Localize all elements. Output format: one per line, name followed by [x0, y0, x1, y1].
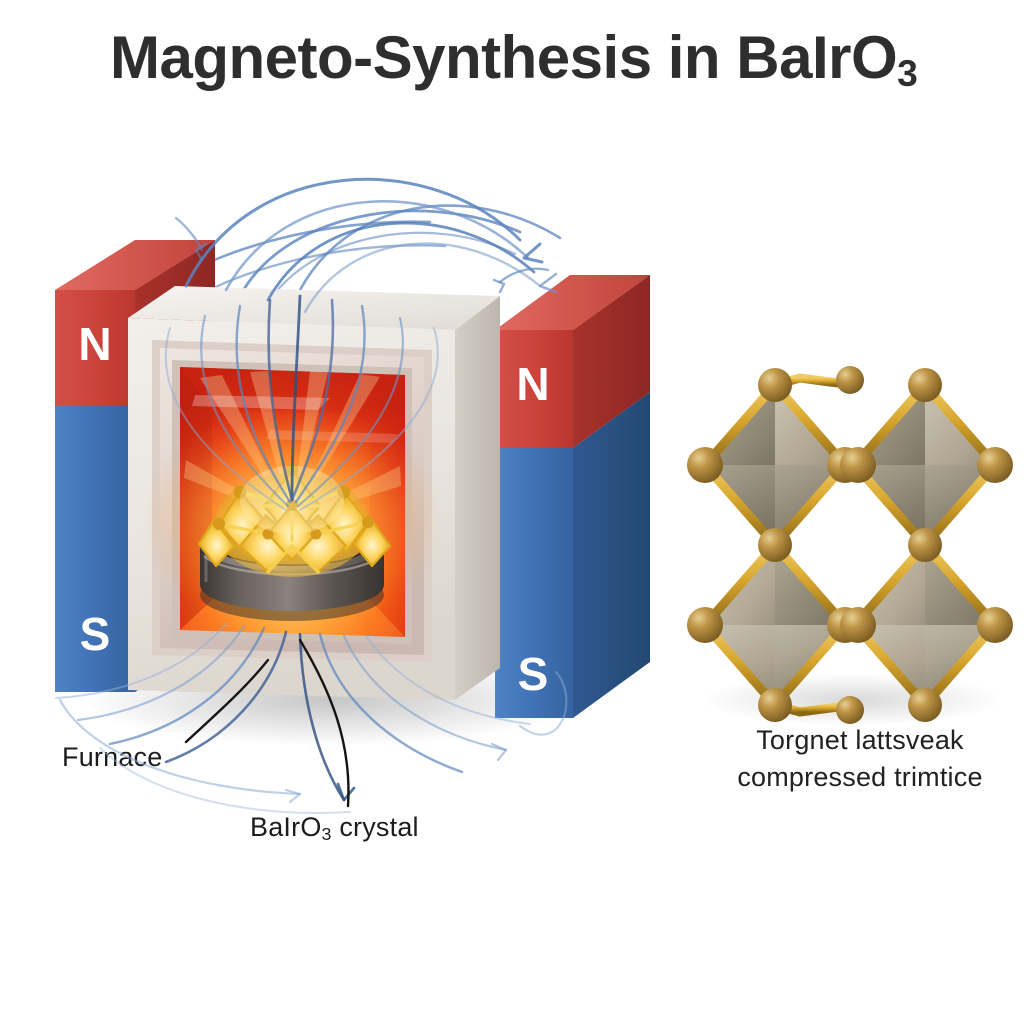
illustration-canvas: Magneto-Synthesis in BaIrO3	[0, 0, 1024, 1024]
label-leader-lines	[0, 0, 1024, 1024]
leader-crystal	[300, 640, 348, 806]
leader-furnace	[186, 660, 268, 742]
